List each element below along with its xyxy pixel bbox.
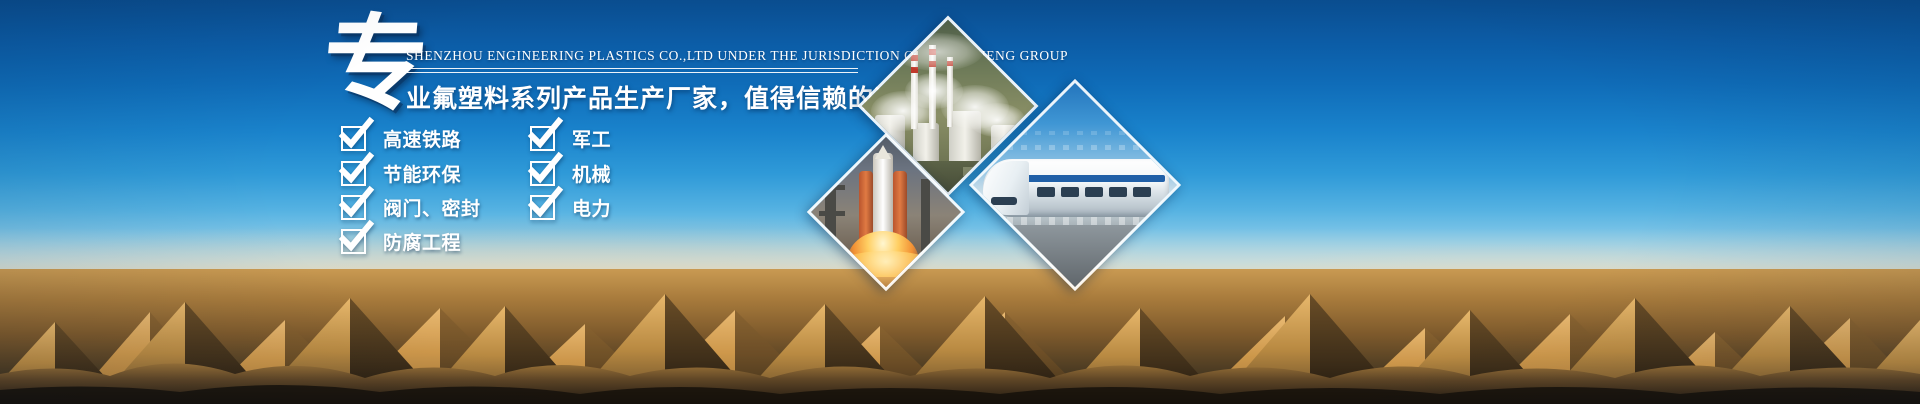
checklist-item-label: 军工 bbox=[572, 125, 611, 152]
checkmark-icon bbox=[341, 126, 366, 151]
checklist-item-machinery[interactable]: 机械 bbox=[530, 160, 611, 187]
checkmark-icon bbox=[530, 126, 555, 151]
checklist-item-valves-seals[interactable]: 阀门、密封 bbox=[341, 194, 481, 221]
promo-banner: 专 SHENZHOU ENGINEERING PLASTICS CO.,LTD … bbox=[0, 0, 1920, 404]
checklist-item-military[interactable]: 军工 bbox=[530, 125, 611, 152]
checkmark-icon bbox=[530, 195, 555, 220]
checklist-item-label: 机械 bbox=[572, 160, 611, 187]
checkmark-icon bbox=[341, 161, 366, 186]
checkmark-icon bbox=[341, 229, 366, 254]
checklist-item-label: 阀门、密封 bbox=[383, 194, 481, 221]
divider-rule-bottom bbox=[406, 72, 858, 73]
checklist-item-electric-power[interactable]: 电力 bbox=[530, 194, 611, 221]
checklist-item-anticorrosion[interactable]: 防腐工程 bbox=[341, 228, 461, 255]
checklist-item-label: 高速铁路 bbox=[383, 125, 461, 152]
checklist-item-label: 防腐工程 bbox=[383, 228, 461, 255]
checklist-item-label: 电力 bbox=[572, 194, 611, 221]
checklist-item-energy-saving[interactable]: 节能环保 bbox=[341, 160, 461, 187]
checkmark-icon bbox=[530, 161, 555, 186]
divider-rule-top bbox=[406, 68, 858, 69]
checklist-item-label: 节能环保 bbox=[383, 160, 461, 187]
pyramid-skyline bbox=[0, 224, 1920, 404]
checkmark-icon bbox=[341, 195, 366, 220]
checklist-item-high-speed-rail[interactable]: 高速铁路 bbox=[341, 125, 461, 152]
